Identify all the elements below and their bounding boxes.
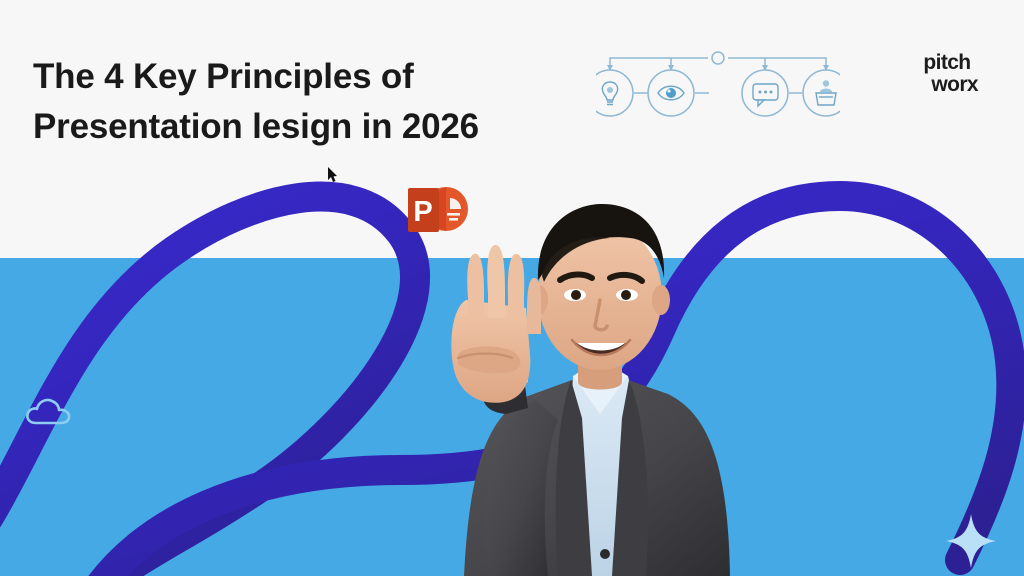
sparkle-icon [944,512,998,570]
cursor-arrow-icon [327,167,338,183]
powerpoint-icon[interactable]: P [406,182,470,240]
process-flow-diagram [596,44,840,118]
slide-canvas: The 4 Key Principles of Presentation les… [0,0,1024,576]
eye-icon [658,86,684,100]
speech-bubble-icon [753,84,778,106]
brand-logo-line-2: worx [923,74,978,96]
brand-logo[interactable]: pitch worx [923,52,978,96]
cloud-icon [22,392,78,432]
page-title-line-2: Presentation lesign in 2026 [33,102,553,152]
page-title-line-1: The 4 Key Principles of [33,52,553,102]
brand-logo-line-1: pitch [923,51,970,74]
podium-presenter-icon [816,80,836,105]
presenter-photo [432,168,762,576]
lightbulb-icon [602,82,617,105]
svg-text:P: P [413,196,432,228]
page-title: The 4 Key Principles of Presentation les… [33,52,553,151]
